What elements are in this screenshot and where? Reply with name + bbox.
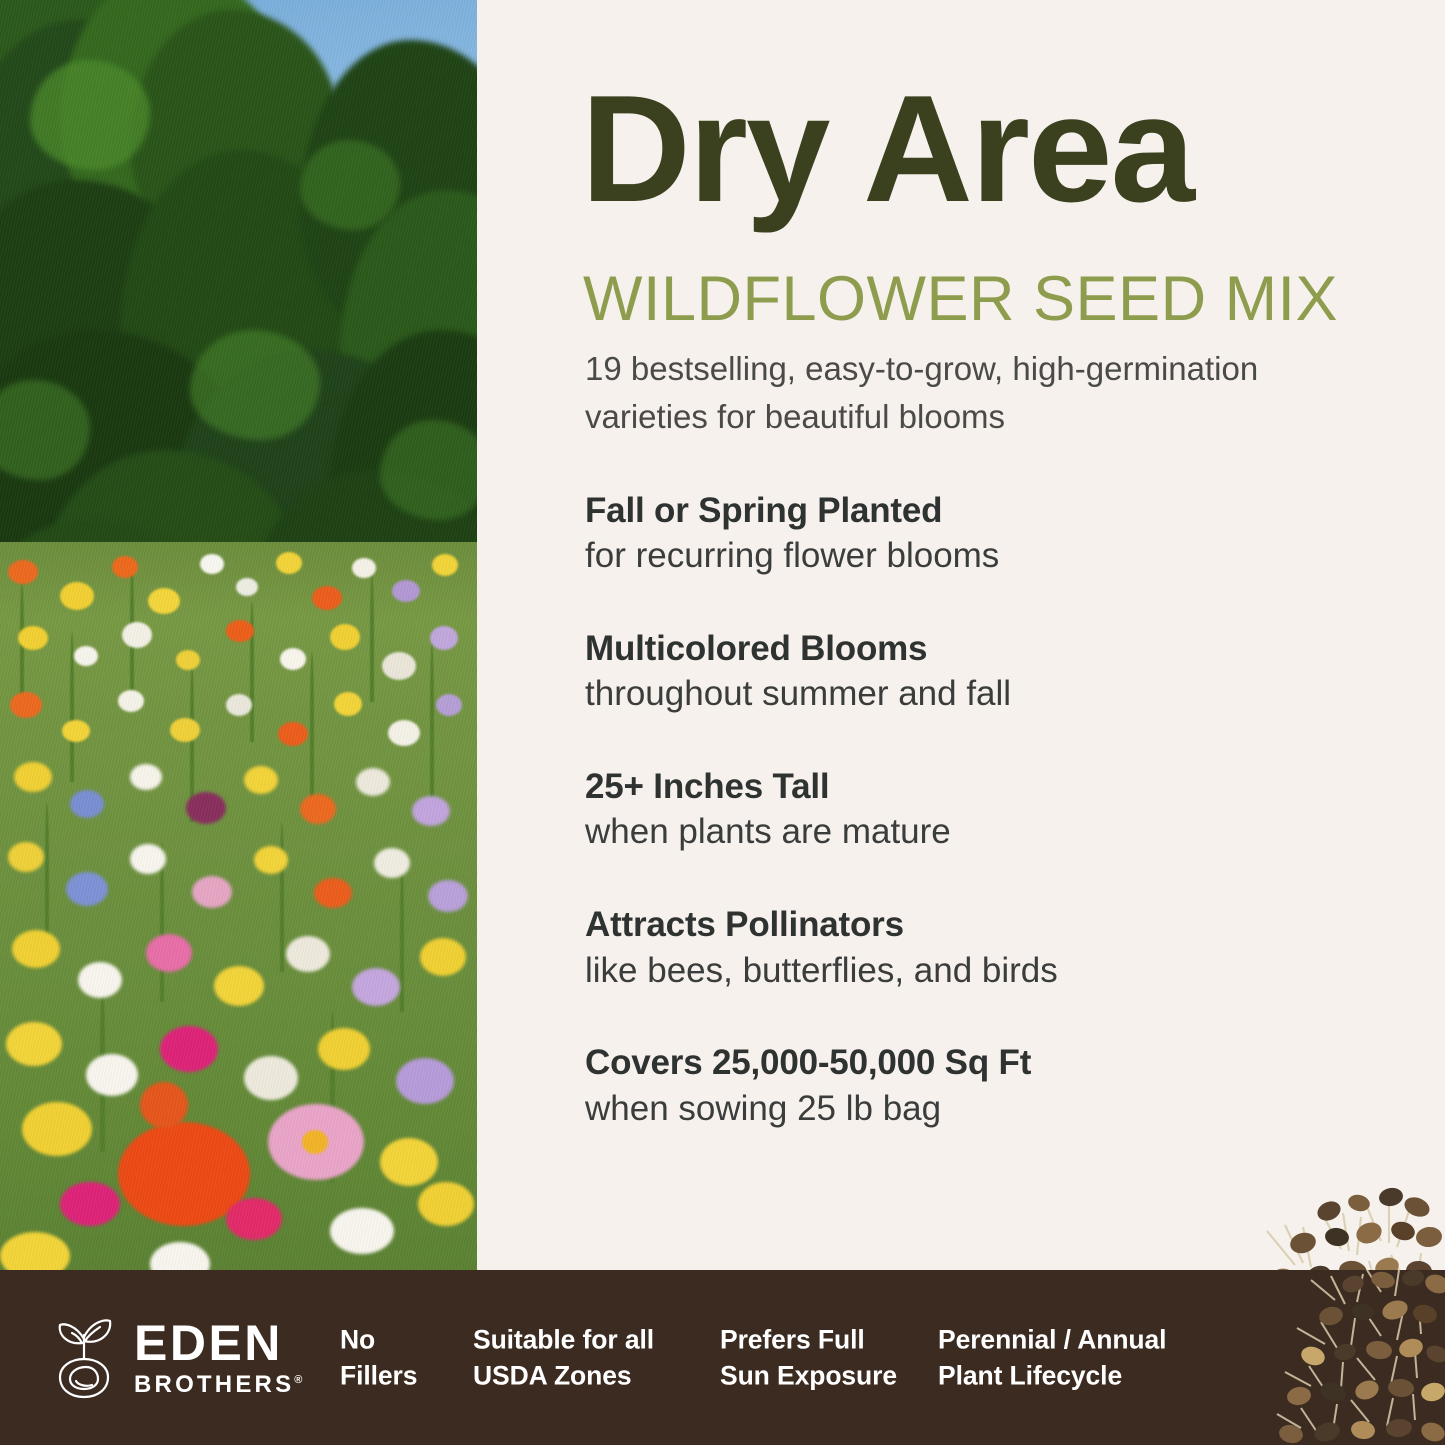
brand-logo: EDEN BROTHERS®	[48, 1315, 302, 1401]
footer-badge-line1: Perennial / Annual	[938, 1321, 1166, 1358]
wildflower-meadow-region	[0, 542, 477, 1290]
product-description: 19 bestselling, easy-to-grow, high-germi…	[585, 345, 1345, 440]
product-copy-panel: Dry Area WILDFLOWER SEED MIX 19 bestsell…	[577, 0, 1445, 1290]
product-infographic: Dry Area WILDFLOWER SEED MIX 19 bestsell…	[0, 0, 1445, 1445]
feature-item: Fall or Spring Planted for recurring flo…	[585, 490, 1285, 579]
brand-name-eden: EDEN	[134, 1318, 302, 1368]
brand-brothers-text: BROTHERS	[134, 1371, 294, 1398]
brand-name-brothers: BROTHERS®	[134, 1373, 302, 1397]
feature-detail: when plants are mature	[585, 810, 1285, 855]
feature-heading: 25+ Inches Tall	[585, 766, 1285, 807]
footer-badge-usda-zones: Suitable for all USDA Zones	[473, 1321, 654, 1394]
footer-badge-line1: Suitable for all	[473, 1321, 654, 1358]
footer-badge-no-fillers: No Fillers	[340, 1321, 417, 1394]
feature-heading: Attracts Pollinators	[585, 904, 1285, 945]
footer-badge-sun-exposure: Prefers Full Sun Exposure	[720, 1321, 897, 1394]
product-subtitle: WILDFLOWER SEED MIX	[583, 268, 1338, 331]
feature-item: Covers 25,000-50,000 Sq Ft when sowing 2…	[585, 1042, 1285, 1131]
feature-heading: Fall or Spring Planted	[585, 490, 1285, 531]
footer-badge-line2: Plant Lifecycle	[938, 1358, 1166, 1395]
feature-item: 25+ Inches Tall when plants are mature	[585, 766, 1285, 855]
feature-heading: Covers 25,000-50,000 Sq Ft	[585, 1042, 1285, 1083]
footer-seed-overlay	[1185, 1270, 1445, 1445]
feature-list: Fall or Spring Planted for recurring flo…	[585, 490, 1285, 1131]
footer-badge-line2: Sun Exposure	[720, 1358, 897, 1395]
feature-detail: for recurring flower blooms	[585, 534, 1285, 579]
footer-badge-line2: USDA Zones	[473, 1358, 654, 1395]
footer-badge-line1: No	[340, 1321, 417, 1358]
brand-wordmark: EDEN BROTHERS®	[134, 1318, 302, 1397]
footer-seed-svg	[1185, 1270, 1445, 1445]
feature-item: Multicolored Blooms throughout summer an…	[585, 628, 1285, 717]
feature-detail: like bees, butterflies, and birds	[585, 949, 1285, 994]
feature-heading: Multicolored Blooms	[585, 628, 1285, 669]
hero-photo-wildflower-meadow	[0, 0, 477, 1290]
feature-item: Attracts Pollinators like bees, butterfl…	[585, 904, 1285, 993]
footer-badge-plant-lifecycle: Perennial / Annual Plant Lifecycle	[938, 1321, 1166, 1394]
footer-badge-line2: Fillers	[340, 1358, 417, 1395]
registered-trademark-icon: ®	[294, 1374, 302, 1386]
footer-badge-line1: Prefers Full	[720, 1321, 897, 1358]
product-title: Dry Area	[581, 80, 1371, 220]
eden-brothers-sprout-icon	[48, 1315, 122, 1401]
footer-bar: EDEN BROTHERS® No Fillers Suitable for a…	[0, 1270, 1445, 1445]
feature-detail: when sowing 25 lb bag	[585, 1087, 1285, 1132]
feature-detail: throughout summer and fall	[585, 672, 1285, 717]
